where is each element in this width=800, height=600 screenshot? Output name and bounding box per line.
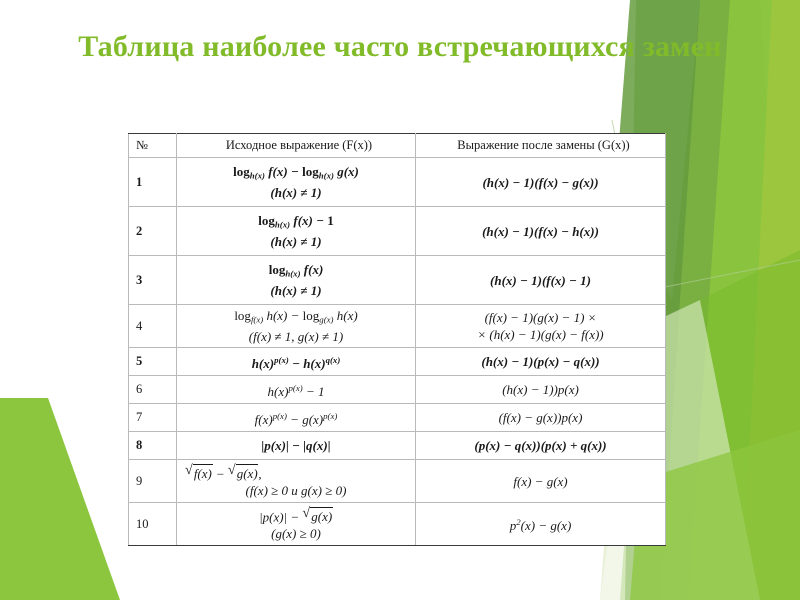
column-header-source: Исходное выражение (F(x)) <box>177 134 416 158</box>
row-source-expression: logh(x) f(x) − logh(x) g(x) (h(x) ≠ 1) <box>177 158 416 207</box>
row-source-expression: h(x)p(x) − 1 <box>177 376 416 404</box>
deco-shape-left-wedge <box>0 398 120 600</box>
table-row: 4 logf(x) h(x) − logg(x) h(x) (f(x) ≠ 1,… <box>129 305 666 348</box>
row-result-expression: (h(x) − 1)(f(x) − 1) <box>416 256 666 305</box>
row-number: 3 <box>129 256 177 305</box>
column-header-number: № <box>129 134 177 158</box>
row-source-expression: h(x)p(x) − h(x)q(x) <box>177 348 416 376</box>
table-header: № Исходное выражение (F(x)) Выражение по… <box>129 134 666 158</box>
row-result-expression: (h(x) − 1))p(x) <box>416 376 666 404</box>
row-source-expression: f(x) − g(x), (f(x) ≥ 0 и g(x) ≥ 0) <box>177 460 416 503</box>
substitutions-table: № Исходное выражение (F(x)) Выражение по… <box>128 133 666 546</box>
row-number: 1 <box>129 158 177 207</box>
row-result-expression: (h(x) − 1)(p(x) − q(x)) <box>416 348 666 376</box>
table-row: 7 f(x)p(x) − g(x)p(x) (f(x) − g(x))p(x) <box>129 404 666 432</box>
row-source-expression: |p(x)| − |q(x)| <box>177 432 416 460</box>
slide-canvas: Таблица наиболее часто встречающихся зам… <box>0 0 800 600</box>
row-result-expression: (h(x) − 1)(f(x) − g(x)) <box>416 158 666 207</box>
row-number: 9 <box>129 460 177 503</box>
table-row: 2 logh(x) f(x) − 1 (h(x) ≠ 1) (h(x) − 1)… <box>129 207 666 256</box>
row-result-expression: (f(x) − g(x))p(x) <box>416 404 666 432</box>
row-source-expression: logh(x) f(x) (h(x) ≠ 1) <box>177 256 416 305</box>
row-result-expression: p2(x) − g(x) <box>416 503 666 546</box>
table-row: 5 h(x)p(x) − h(x)q(x) (h(x) − 1)(p(x) − … <box>129 348 666 376</box>
table-row: 3 logh(x) f(x) (h(x) ≠ 1) (h(x) − 1)(f(x… <box>129 256 666 305</box>
table-body: 1 logh(x) f(x) − logh(x) g(x) (h(x) ≠ 1)… <box>129 158 666 546</box>
row-result-expression: (f(x) − 1)(g(x) − 1) × × (h(x) − 1)(g(x)… <box>416 305 666 348</box>
row-source-expression: |p(x)| − g(x) (g(x) ≥ 0) <box>177 503 416 546</box>
deco-shape-right-mid <box>660 0 800 600</box>
substitutions-table-container: № Исходное выражение (F(x)) Выражение по… <box>128 133 625 546</box>
table-row: 9 f(x) − g(x), (f(x) ≥ 0 и g(x) ≥ 0) f(x… <box>129 460 666 503</box>
row-number: 6 <box>129 376 177 404</box>
row-number: 8 <box>129 432 177 460</box>
row-result-expression: (p(x) − q(x))(p(x) + q(x)) <box>416 432 666 460</box>
row-number: 5 <box>129 348 177 376</box>
row-result-expression: f(x) − g(x) <box>416 460 666 503</box>
row-number: 7 <box>129 404 177 432</box>
row-source-expression: f(x)p(x) − g(x)p(x) <box>177 404 416 432</box>
row-source-expression: logf(x) h(x) − logg(x) h(x) (f(x) ≠ 1, g… <box>177 305 416 348</box>
row-result-expression: (h(x) − 1)(f(x) − h(x)) <box>416 207 666 256</box>
deco-shape-right-olive <box>742 0 800 600</box>
table-row: 6 h(x)p(x) − 1 (h(x) − 1))p(x) <box>129 376 666 404</box>
table-row: 10 |p(x)| − g(x) (g(x) ≥ 0) p2(x) − g(x) <box>129 503 666 546</box>
page-title: Таблица наиболее часто встречающихся зам… <box>60 28 740 66</box>
row-number: 2 <box>129 207 177 256</box>
row-source-expression: logh(x) f(x) − 1 (h(x) ≠ 1) <box>177 207 416 256</box>
table-row: 1 logh(x) f(x) − logh(x) g(x) (h(x) ≠ 1)… <box>129 158 666 207</box>
row-number: 4 <box>129 305 177 348</box>
deco-shape-right-bright <box>688 0 800 600</box>
table-header-row: № Исходное выражение (F(x)) Выражение по… <box>129 134 666 158</box>
table-row: 8 |p(x)| − |q(x)| (p(x) − q(x))(p(x) + q… <box>129 432 666 460</box>
column-header-result: Выражение после замены (G(x)) <box>416 134 666 158</box>
row-number: 10 <box>129 503 177 546</box>
